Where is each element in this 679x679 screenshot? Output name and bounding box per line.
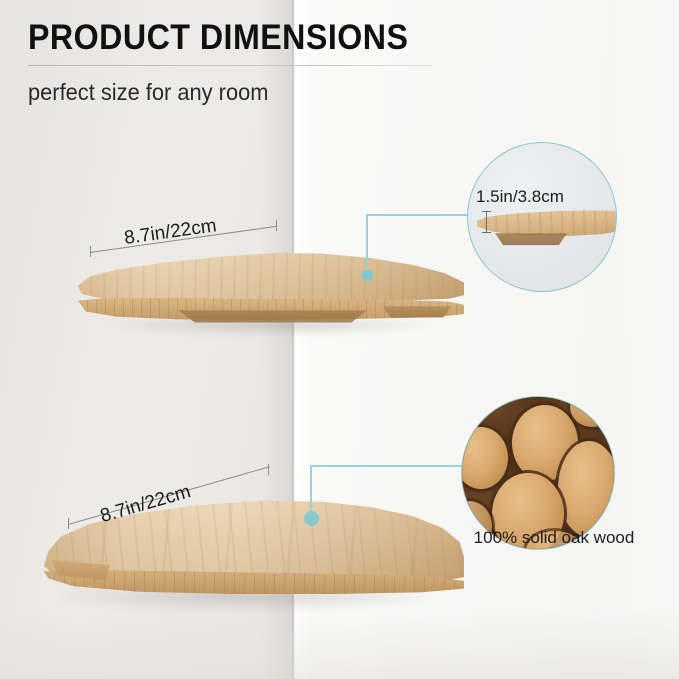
corner-shelf-top bbox=[78, 244, 464, 336]
page-subtitle: perfect size for any room bbox=[28, 79, 475, 106]
dimension-tick-icon-left bbox=[68, 518, 69, 529]
callout-material-bubble bbox=[461, 396, 615, 550]
header-block: PRODUCT DIMENSIONS perfect size for any … bbox=[28, 20, 498, 106]
thickness-label: 1.5in/3.8cm bbox=[476, 187, 564, 207]
page-title: PRODUCT DIMENSIONS bbox=[28, 20, 460, 57]
connector-vertical-line bbox=[366, 214, 368, 276]
connector-horizontal-line bbox=[310, 465, 468, 467]
measure-bracket-icon bbox=[482, 211, 491, 233]
title-divider bbox=[28, 65, 432, 66]
callout-thickness-bubble: 1.5in/3.8cm bbox=[467, 142, 617, 292]
stacked-logs-photo bbox=[462, 397, 614, 549]
dimension-tick-icon-right bbox=[268, 464, 269, 475]
connector-dot-icon bbox=[304, 511, 319, 526]
connector-dot-icon bbox=[362, 270, 373, 281]
callout-shelf-underside bbox=[490, 233, 572, 249]
dimension-tick-icon-left bbox=[90, 246, 91, 257]
product-dimensions-infographic: PRODUCT DIMENSIONS perfect size for any … bbox=[0, 0, 679, 679]
dimension-tick-icon-right bbox=[276, 220, 277, 231]
material-caption: 100% solid oak wood bbox=[459, 528, 649, 548]
floor-shadow bbox=[0, 609, 679, 679]
wall-right-fade bbox=[599, 0, 679, 679]
